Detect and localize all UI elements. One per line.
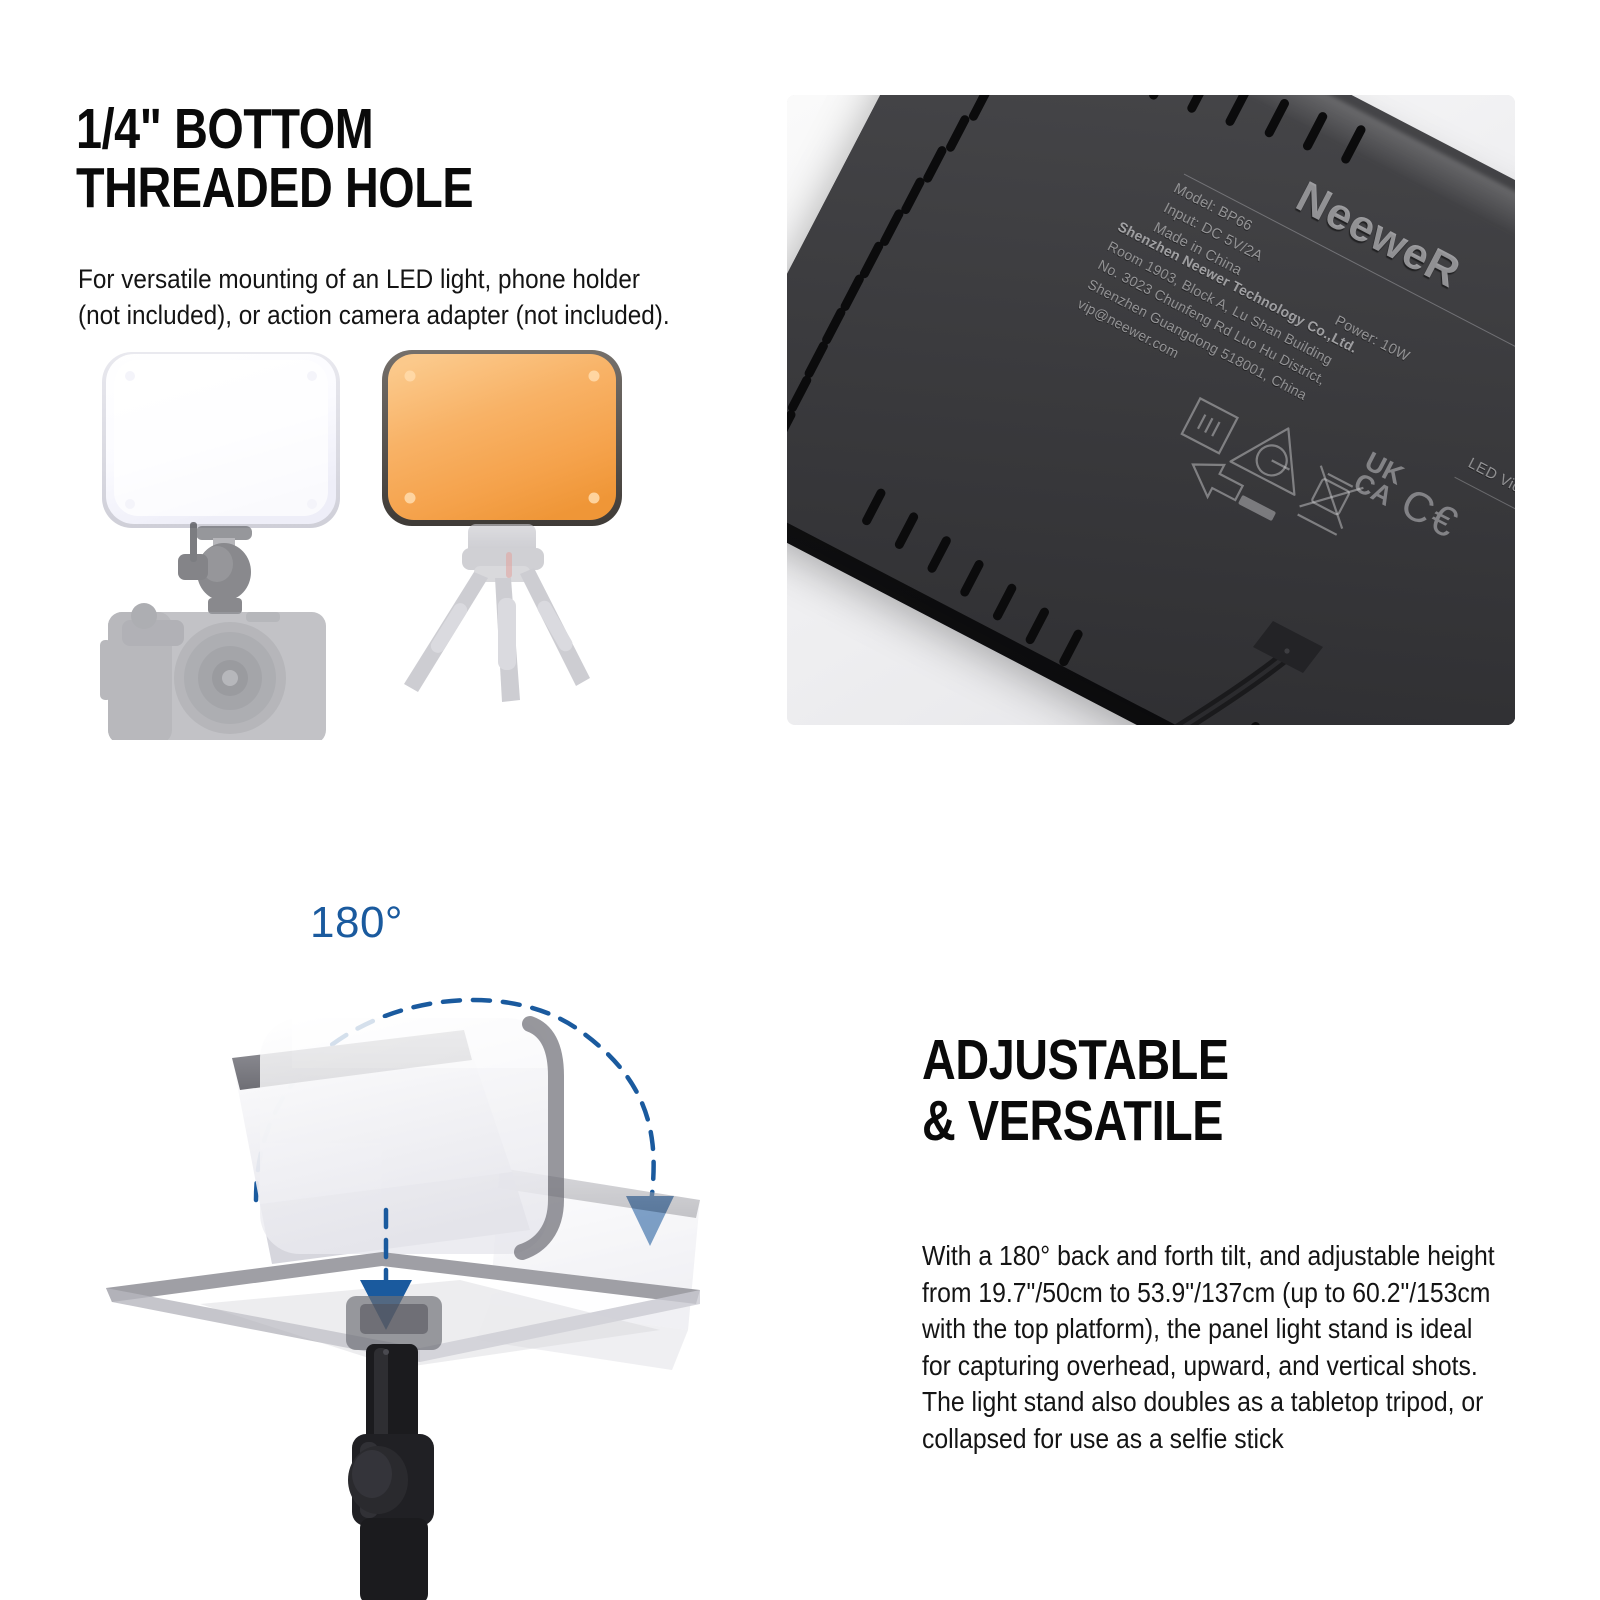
description-line-6: collapsed for use as a selfie stick	[922, 1421, 1495, 1458]
mirrorless-camera	[100, 603, 326, 740]
tabletop-tripod	[404, 524, 590, 702]
headline-line-1: 1/4" BOTTOM	[76, 100, 473, 159]
dc-power-cable	[1087, 615, 1347, 725]
tilt-range-diagram	[60, 900, 820, 1600]
description-line-3: with the top platform), the panel light …	[922, 1311, 1495, 1348]
top-left-product-illustrations	[70, 340, 690, 740]
led-panel-underside-photo: NeeweR Model: BP66 Input: DC 5V/2A Made …	[787, 95, 1515, 725]
ce-mark: C€	[1393, 479, 1466, 548]
description-line-2: from 19.7"/50cm to 53.9"/137cm (up to 60…	[922, 1275, 1495, 1312]
description-line-4: for capturing overhead, upward, and vert…	[922, 1348, 1495, 1385]
description-line-2: (not included), or action camera adapter…	[78, 298, 670, 334]
ghost-panel-front	[260, 1018, 556, 1254]
certification-symbols	[1151, 370, 1388, 578]
top-left-description: For versatile mounting of an LED light, …	[78, 262, 670, 334]
headline-line-2: & VERSATILE	[922, 1091, 1229, 1152]
bottom-right-headline: ADJUSTABLE & VERSATILE	[922, 1030, 1229, 1152]
description-line-1: For versatile mounting of an LED light, …	[78, 262, 670, 298]
headline-line-1: ADJUSTABLE	[922, 1030, 1229, 1091]
light-stand-pole	[348, 1344, 434, 1600]
top-left-headline: 1/4" BOTTOM THREADED HOLE	[76, 100, 473, 217]
tilt-bracket	[346, 1296, 442, 1350]
description-line-5: The light stand also doubles as a tablet…	[922, 1384, 1495, 1421]
bottom-right-description: With a 180° back and forth tilt, and adj…	[922, 1238, 1495, 1457]
headline-line-2: THREADED HOLE	[76, 159, 473, 218]
orange-led-light	[382, 350, 622, 526]
description-line-1: With a 180° back and forth tilt, and adj…	[922, 1238, 1495, 1275]
infographic-canvas: 1/4" BOTTOM THREADED HOLE For versatile …	[0, 0, 1600, 1600]
product-label-engraving: NeeweR Model: BP66 Input: DC 5V/2A Made …	[1203, 125, 1515, 545]
white-led-light	[102, 352, 340, 528]
brand-logo-neewer: NeeweR	[1288, 172, 1468, 298]
